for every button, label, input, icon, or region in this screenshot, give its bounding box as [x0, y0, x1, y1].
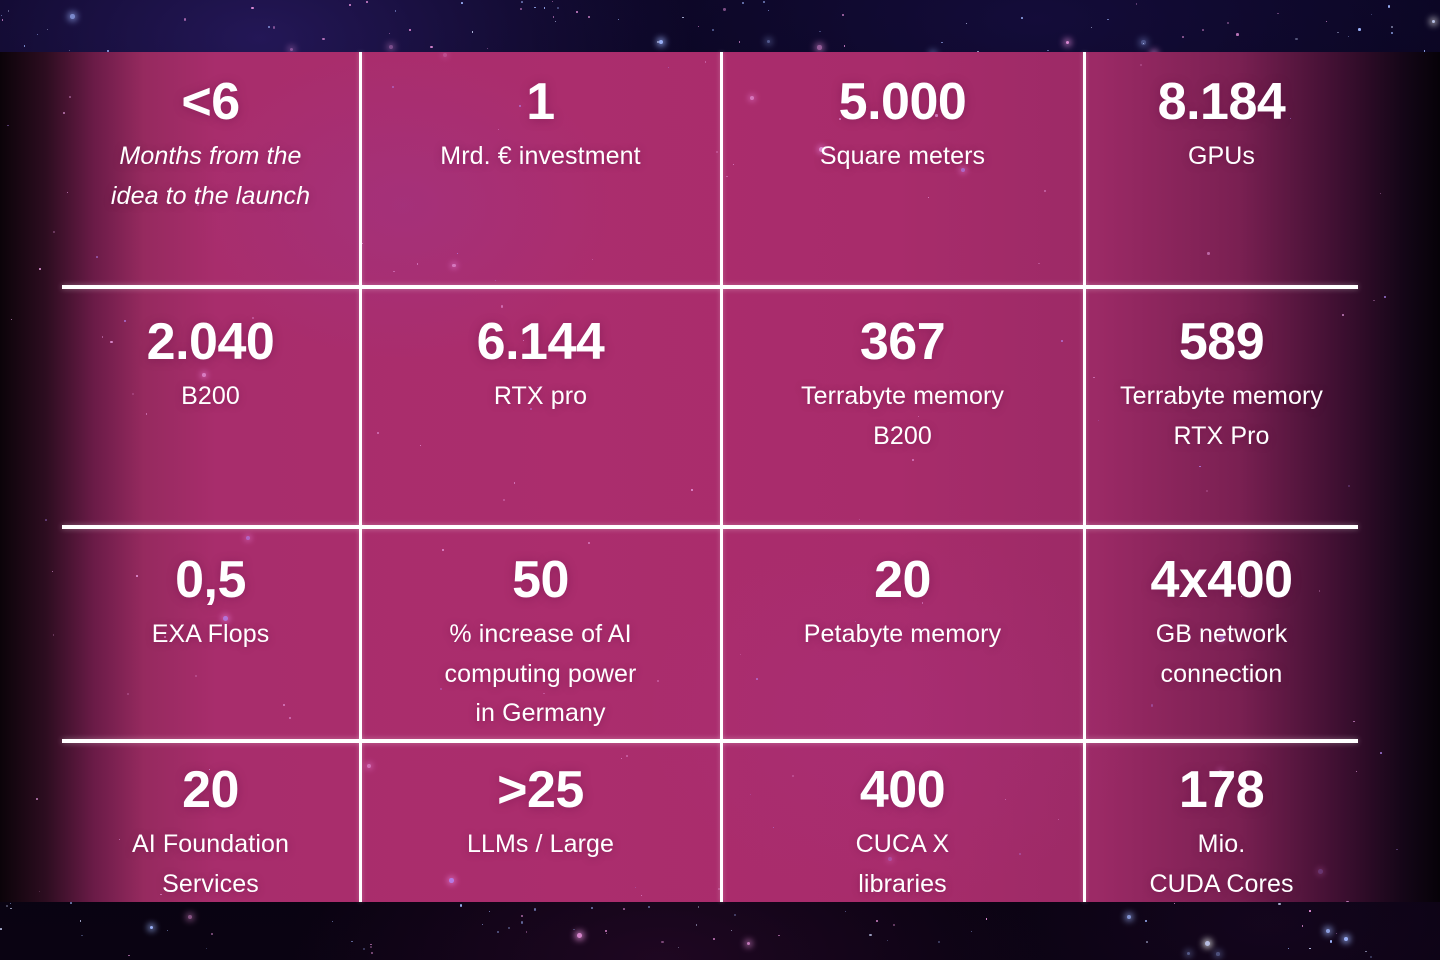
grid-divider-vertical: [359, 52, 362, 902]
grid-divider-vertical: [1083, 52, 1086, 902]
stat-label: LLMs / Large: [467, 825, 614, 865]
stat-cell: 367Terrabyte memoryB200: [722, 316, 1083, 525]
stat-cell: 8.184GPUs: [1085, 76, 1358, 285]
stat-label: Terrabyte memoryRTX Pro: [1120, 377, 1323, 456]
stat-label: B200: [181, 377, 240, 417]
grid-divider-horizontal: [62, 739, 1358, 743]
grid-divider-horizontal: [62, 285, 1358, 289]
stat-value: 2.040: [147, 316, 275, 369]
stat-label: Mio.CUDA Cores: [1149, 825, 1293, 904]
stat-value: <6: [181, 76, 239, 129]
stat-value: 367: [860, 316, 945, 369]
stat-label: RTX pro: [494, 377, 587, 417]
stat-value: 5.000: [839, 76, 967, 129]
stat-value: 1: [526, 76, 554, 129]
stat-cell: <6Months from theidea to the launch: [62, 76, 359, 285]
stat-value: 50: [512, 554, 569, 607]
stat-label: CUCA Xlibraries: [856, 825, 950, 904]
stat-cell: 2.040B200: [62, 316, 359, 525]
stat-value: 8.184: [1158, 76, 1286, 129]
stat-cell: 1Mrd. € investment: [361, 76, 720, 285]
stat-label: Petabyte memory: [804, 615, 1001, 655]
stat-cell: >25LLMs / Large: [361, 764, 720, 902]
grid-divider-horizontal: [62, 525, 1358, 529]
stat-cell: 589Terrabyte memoryRTX Pro: [1085, 316, 1358, 525]
stat-label: Square meters: [820, 137, 985, 177]
stat-label: % increase of AIcomputing powerin German…: [445, 615, 637, 734]
stat-value: 400: [860, 764, 945, 817]
stat-cell: 50% increase of AIcomputing powerin Germ…: [361, 554, 720, 739]
stat-value: 589: [1179, 316, 1264, 369]
stat-value: 4x400: [1150, 554, 1292, 607]
stat-label: GB networkconnection: [1156, 615, 1288, 694]
stat-label: Mrd. € investment: [440, 137, 640, 177]
stat-value: 0,5: [175, 554, 246, 607]
stat-label: EXA Flops: [152, 615, 270, 655]
stat-cell: 20AI FoundationServices: [62, 764, 359, 902]
grid-divider-vertical: [720, 52, 723, 902]
stat-cell: 20Petabyte memory: [722, 554, 1083, 739]
stat-cell: 4x400GB networkconnection: [1085, 554, 1358, 739]
stat-cell: 6.144RTX pro: [361, 316, 720, 525]
stat-value: 6.144: [477, 316, 605, 369]
stat-cell: 178Mio.CUDA Cores: [1085, 764, 1358, 902]
stat-label: GPUs: [1188, 137, 1255, 177]
stat-label: Terrabyte memoryB200: [801, 377, 1004, 456]
stat-value: 20: [182, 764, 239, 817]
stat-cell: 0,5EXA Flops: [62, 554, 359, 739]
infographic-canvas: <6Months from theidea to the launch1Mrd.…: [0, 0, 1440, 960]
stat-cell: 5.000Square meters: [722, 76, 1083, 285]
stat-label: AI FoundationServices: [132, 825, 289, 904]
stat-cell: 400CUCA Xlibraries: [722, 764, 1083, 902]
stat-value: 178: [1179, 764, 1264, 817]
stats-grid: <6Months from theidea to the launch1Mrd.…: [0, 52, 1440, 902]
stat-value: >25: [497, 764, 584, 817]
stat-label: Months from theidea to the launch: [111, 137, 310, 216]
stat-value: 20: [874, 554, 931, 607]
